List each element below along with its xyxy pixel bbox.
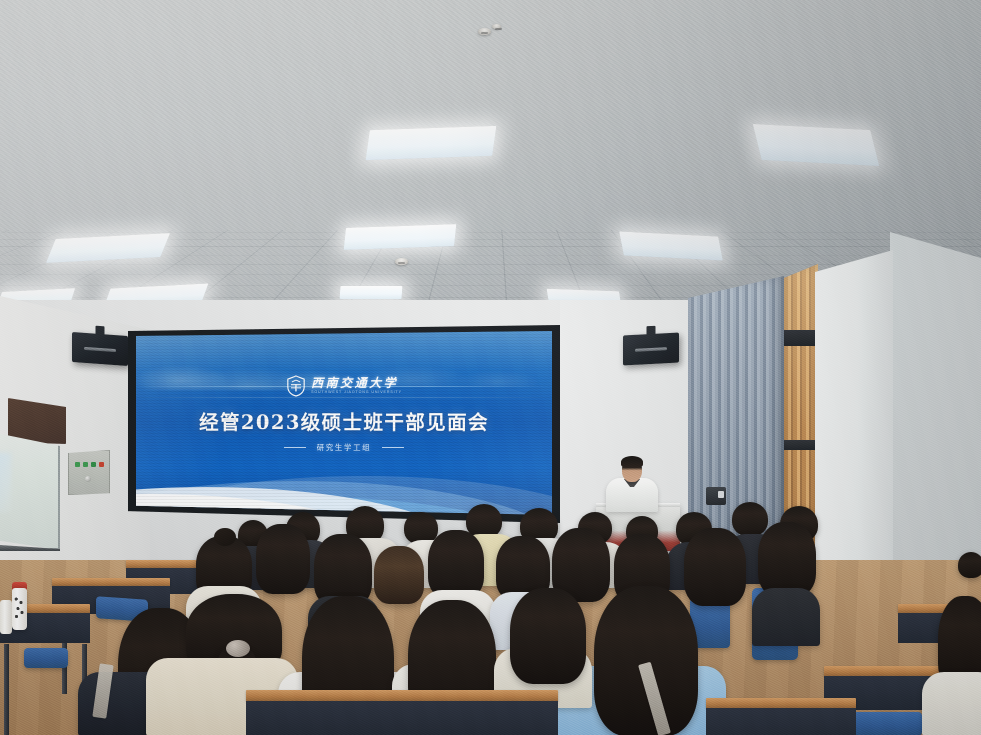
audience-body: [922, 672, 981, 735]
audience-hair: [428, 530, 484, 598]
audience-body: [752, 588, 820, 646]
desk-top: [706, 698, 856, 708]
audience-head: [732, 502, 768, 536]
projection-screen: 西南交通大学 Southwest Jiaotong University 经管2…: [136, 331, 552, 515]
wall-speaker-left: [72, 332, 128, 366]
thermos-bottle: [12, 588, 27, 630]
speaker-port: [84, 347, 115, 352]
control-knob[interactable]: [85, 476, 91, 482]
audience-hair: [374, 546, 424, 604]
bottle-pattern: [14, 594, 25, 622]
university-shield-icon: [286, 375, 306, 397]
wall-speaker-right: [623, 333, 679, 366]
desk-top: [246, 690, 558, 701]
control-button-green[interactable]: [91, 462, 96, 467]
thermos-bottle: [0, 600, 12, 634]
audience-hair: [684, 528, 746, 606]
hair-scrunchie: [226, 640, 250, 657]
audience-head: [958, 552, 981, 578]
chair[interactable]: [24, 648, 68, 668]
desk: [246, 690, 558, 735]
desk-body: [246, 701, 558, 735]
speaker-port: [635, 347, 666, 352]
university-name-en: Southwest Jiaotong University: [311, 391, 402, 395]
classroom-photo: 西南交通大学 Southwest Jiaotong University 经管2…: [0, 0, 981, 735]
window-divider: [784, 330, 818, 346]
desk: [706, 698, 856, 735]
audience-hair: [256, 524, 310, 594]
presenter-hair: [621, 456, 643, 468]
audience-hair: [758, 522, 816, 596]
subtitle-dash-left: [284, 447, 306, 448]
desk-body: [706, 708, 856, 735]
subtitle-dash-right: [382, 447, 404, 448]
window-divider: [784, 440, 818, 450]
hair-bun: [214, 528, 236, 546]
desk-top: [52, 578, 170, 586]
university-name-cn: 西南交通大学: [311, 377, 398, 389]
control-button-red[interactable]: [99, 462, 104, 467]
slide-horizon-line: [136, 397, 552, 398]
whiteboard: [0, 430, 60, 550]
university-logo: 西南交通大学 Southwest Jiaotong University: [136, 375, 552, 397]
audio-device: [706, 487, 726, 505]
control-button-green[interactable]: [75, 462, 80, 467]
audience-hair: [594, 586, 698, 735]
desk-leg: [4, 644, 9, 735]
slide-title: 经管2023级硕士班干部见面会: [136, 406, 552, 435]
whiteboard-glare: [0, 453, 11, 513]
audience-hair: [510, 588, 586, 684]
wall-control-panel[interactable]: [68, 450, 110, 495]
control-button-green[interactable]: [83, 462, 88, 467]
